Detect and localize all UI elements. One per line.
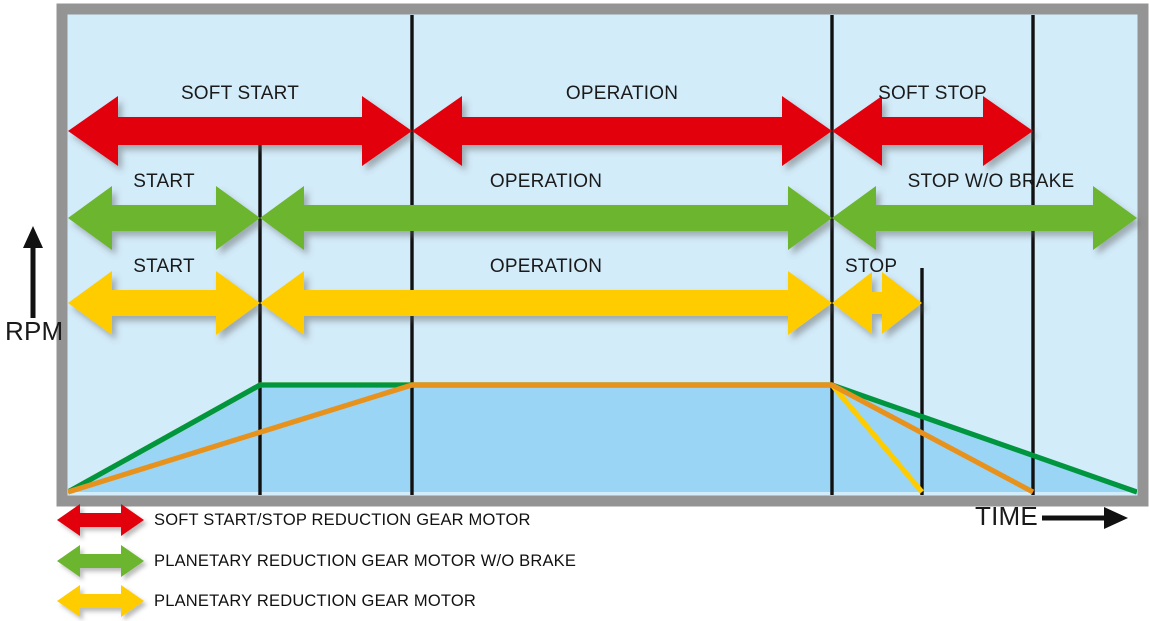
label-red-operation: OPERATION [412, 83, 832, 105]
label-green-start: START [68, 171, 260, 193]
rpm-axis-label: RPM [5, 316, 63, 347]
rpm-axis-arrow [23, 226, 43, 318]
legend-item-label-green: PLANETARY REDUCTION GEAR MOTOR W/O BRAKE [154, 552, 576, 571]
label-yellow-stop: STOP [845, 256, 897, 278]
legend-item-label-red: SOFT START/STOP REDUCTION GEAR MOTOR [154, 511, 531, 530]
label-soft-stop: SOFT STOP [832, 83, 1033, 105]
label-soft-start: SOFT START [68, 83, 412, 105]
time-axis-arrow [1042, 507, 1128, 529]
label-yellow-start: START [68, 256, 260, 278]
label-yellow-operation: OPERATION [260, 256, 832, 278]
label-green-operation: OPERATION [260, 171, 832, 193]
legend-item-label-yellow: PLANETARY REDUCTION GEAR MOTOR [154, 592, 476, 611]
label-stop-wo-brake: STOP W/O BRAKE [845, 171, 1137, 193]
legend-swatch-yellow [57, 585, 144, 617]
legend-swatch-red [57, 504, 144, 536]
diagram-root: SOFT START OPERATION SOFT STOP START OPE… [0, 0, 1149, 621]
legend-swatches [57, 504, 144, 617]
legend-swatch-green [57, 545, 144, 577]
time-axis-label: TIME [975, 501, 1038, 532]
